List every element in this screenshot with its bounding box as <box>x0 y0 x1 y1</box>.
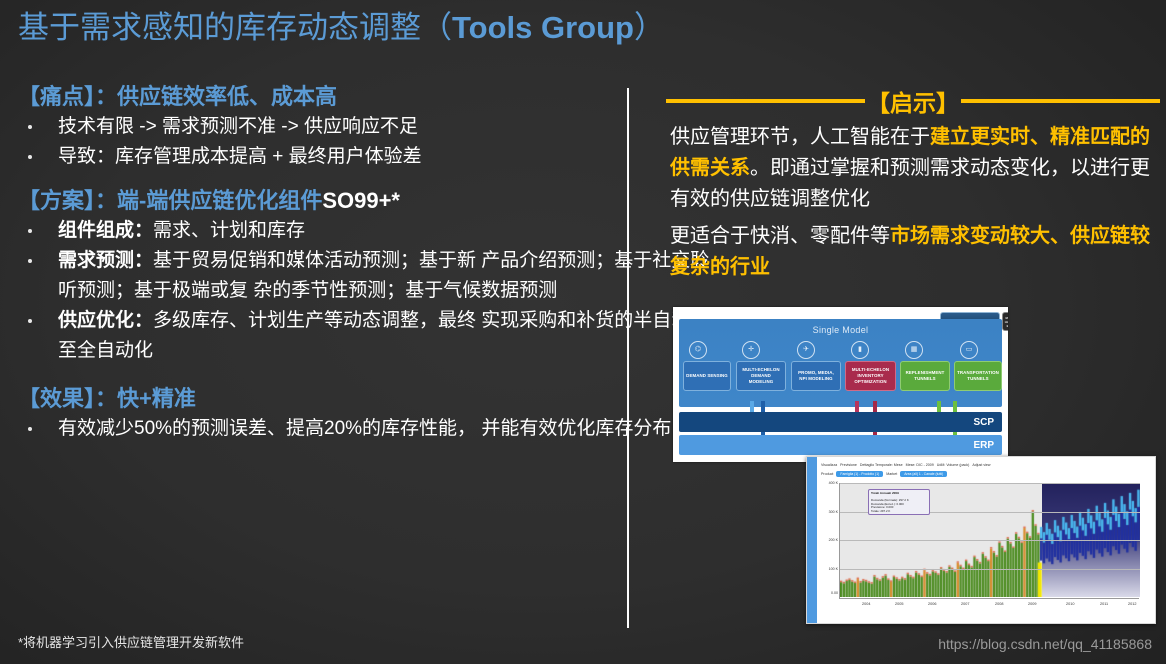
truck-icon: ▭ <box>960 341 978 359</box>
x-tick-label: 2005 <box>895 602 903 606</box>
toolbar-item[interactable]: Dettaglio Temporale: Mese <box>860 463 903 467</box>
diagram-box-promo-media-npi: PROMO, MEDIA, NPI MODELING <box>791 361 841 391</box>
paragraph-run: 供应管理环节，人工智能在于 <box>670 126 930 148</box>
demand-forecast-chart-screenshot: Visualizza Previsione Dettaglio Temporal… <box>806 456 1156 624</box>
slide-root: 基于需求感知的库存动态调整（Tools Group） 【痛点】：供应链效率低、成… <box>0 0 1166 664</box>
machine-learning-engine-badge: MACHINE LEARNING ENGINE <box>1002 312 1008 331</box>
satellite-icon: ⌬ <box>689 341 707 359</box>
y-tick-label: 200 K <box>820 538 838 542</box>
bullet-text: 基于贸易促销和媒体活动预测；基于新 产品介绍预测；基于社交聆听预测；基于极端或复… <box>58 250 709 301</box>
title-cn: 基于需求感知的库存动态调整（ <box>18 10 452 45</box>
revelation-header: 【启示】 <box>666 84 1160 118</box>
rule-right <box>961 99 1160 103</box>
single-model-label: Single Model <box>679 325 1002 335</box>
title-close: ） <box>634 10 665 45</box>
gridline <box>840 540 1140 541</box>
diagram-box-demand-sensing: DEMAND SENSING <box>683 361 731 391</box>
product-filter-pill[interactable]: Famiglia (1) - Prodotto (1) <box>836 471 883 477</box>
chart-tooltip: Totali Annuali 2009 Domanda (Normale): 2… <box>868 489 930 515</box>
paragraph-run: 更适合于快消、零配件等 <box>670 225 890 247</box>
x-tick-label: 2004 <box>862 602 870 606</box>
x-tick-label: 2008 <box>995 602 1003 606</box>
watermark-url: https://blog.csdn.net/qq_41185868 <box>938 636 1152 652</box>
diagram-inner: Service Optimizer 99+ MACHINE LEARNING E… <box>679 311 1002 458</box>
x-tick-label: 2011 <box>1100 602 1108 606</box>
market-label: Market <box>886 472 897 476</box>
rule-left <box>666 99 865 103</box>
page-title: 基于需求感知的库存动态调整（Tools Group） <box>18 8 665 48</box>
diagram-box-transportation-tunnels: TRANSPORTATION TUNNELS <box>954 361 1002 391</box>
list-item: 供应优化：多级库存、计划生产等动态调整，最终 实现采购和补货的半自动甚至全自动化 <box>18 306 728 366</box>
title-en: Tools Group <box>452 10 634 45</box>
so99-architecture-diagram: Service Optimizer 99+ MACHINE LEARNING E… <box>673 307 1008 462</box>
section-heading-text: 【方案】：端-端供应链优化组件 <box>18 188 322 213</box>
diagram-box-replenishment-tunnels: REPLENISHMENT TUNNELS <box>900 361 950 391</box>
x-tick-label: 2010 <box>1066 602 1074 606</box>
market-filter-pill[interactable]: Area (all) 1 - Canale (tutti) <box>900 471 947 477</box>
gridline <box>840 483 1140 484</box>
bullet-text: 多级库存、计划生产等动态调整，最终 实现采购和补货的半自动甚至全自动化 <box>58 310 709 361</box>
section-heading-painpoint: 【痛点】：供应链效率低、成本高 <box>18 82 660 112</box>
x-tick-label: 2009 <box>1028 602 1036 606</box>
chart-left-rail <box>807 457 817 623</box>
revelation-paragraph-1: 供应管理环节，人工智能在于建立更实时、精准匹配的供需关系。即通过掌握和预测需求动… <box>670 122 1158 215</box>
list-item: 有效减少50%的预测误差、提高20%的库存性能， 并能有效优化库存分布 <box>18 414 728 444</box>
toolbar-item[interactable]: Previsione <box>840 463 857 467</box>
bullet-text: 需求、计划和库存 <box>153 220 305 241</box>
x-tick-label: 2007 <box>961 602 969 606</box>
megaphone-icon: ✈ <box>797 341 815 359</box>
bullet-lead: 需求预测： <box>58 250 153 271</box>
chart-toolbar-row2[interactable]: Product Famiglia (1) - Prodotto (1) Mark… <box>821 470 1151 478</box>
tooltip-row: Totale: 297.2 K <box>871 509 890 513</box>
list-item: 组件组成：需求、计划和库存 <box>18 216 660 246</box>
network-icon: ✛ <box>742 341 760 359</box>
section-heading-solution: 【方案】：端-端供应链优化组件SO99+* <box>18 186 660 216</box>
section-heading-text: 【效果】：快+精准 <box>18 386 196 411</box>
tooltip-title: Totali Annuali 2009 <box>871 491 899 495</box>
bullet-lead: 组件组成： <box>58 220 153 241</box>
revelation-paragraph-2: 更适合于快消、零配件等市场需求变动较大、供应链较复杂的行业 <box>670 221 1158 283</box>
toolbar-item[interactable]: Visualizza <box>821 463 837 467</box>
chart-window-body: Visualizza Previsione Dettaglio Temporal… <box>817 457 1155 623</box>
erp-layer: ERP <box>679 435 1002 455</box>
section-heading-effect: 【效果】：快+精准 <box>18 384 660 414</box>
y-tick-label: 100 K <box>820 567 838 571</box>
left-column: 【痛点】：供应链效率低、成本高 技术有限 -> 需求预测不准 -> 供应响应不足… <box>0 82 660 627</box>
list-item: 导致：库存管理成本提高 + 最终用户体验差 <box>18 142 660 172</box>
scp-layer: SCP <box>679 412 1002 432</box>
diagram-box-me-inventory-opt: MULTI-ECHELON INVENTORY OPTIMIZATION <box>845 361 896 391</box>
chart-plot-area[interactable]: 400 K 300 K 200 K 100 K 0.00 2004 2005 2… <box>839 483 1139 599</box>
revelation-title: 【启示】 <box>865 84 961 118</box>
y-tick-label: 0.00 <box>820 591 838 595</box>
section-heading-suffix: SO99+* <box>322 188 400 213</box>
bar-chart-icon: ▮ <box>851 341 869 359</box>
x-tick-label: 2012 <box>1128 602 1136 606</box>
list-item: 技术有限 -> 需求预测不准 -> 供应响应不足 <box>18 112 660 142</box>
list-item: 需求预测：基于贸易促销和媒体活动预测；基于新 产品介绍预测；基于社交聆听预测；基… <box>18 246 728 306</box>
gridline <box>840 569 1140 570</box>
toolbar-item[interactable]: Adjust view <box>972 463 990 467</box>
x-tick-label: 2006 <box>928 602 936 606</box>
bullet-lead: 供应优化： <box>58 310 153 331</box>
y-tick-label: 300 K <box>820 510 838 514</box>
product-label: Product <box>821 472 833 476</box>
footnote: *将机器学习引入供应链管理开发新软件 <box>18 632 244 651</box>
bullet-text: 技术有限 -> 需求预测不准 -> 供应响应不足 <box>58 116 418 137</box>
y-tick-label: 400 K <box>820 481 838 485</box>
bullet-text: 导致：库存管理成本提高 + 最终用户体验差 <box>58 146 422 167</box>
chart-toolbar-row1[interactable]: Visualizza Previsione Dettaglio Temporal… <box>821 461 1151 469</box>
grid-icon: ▦ <box>905 341 923 359</box>
single-model-panel: Single Model ⌬ ✛ ✈ ▮ ▦ ▭ DEMAND SENSING … <box>679 319 1002 407</box>
section-heading-text: 【痛点】：供应链效率低、成本高 <box>18 84 337 109</box>
toolbar-item[interactable]: UdM: Volume (pack) <box>937 463 970 467</box>
diagram-box-me-demand-modeling: MULTI-ECHELON DEMAND MODELING <box>736 361 786 391</box>
bullet-text: 有效减少50%的预测误差、提高20%的库存性能， 并能有效优化库存分布 <box>58 418 671 439</box>
toolbar-item[interactable]: Mese: DIC - 2009 <box>906 463 934 467</box>
